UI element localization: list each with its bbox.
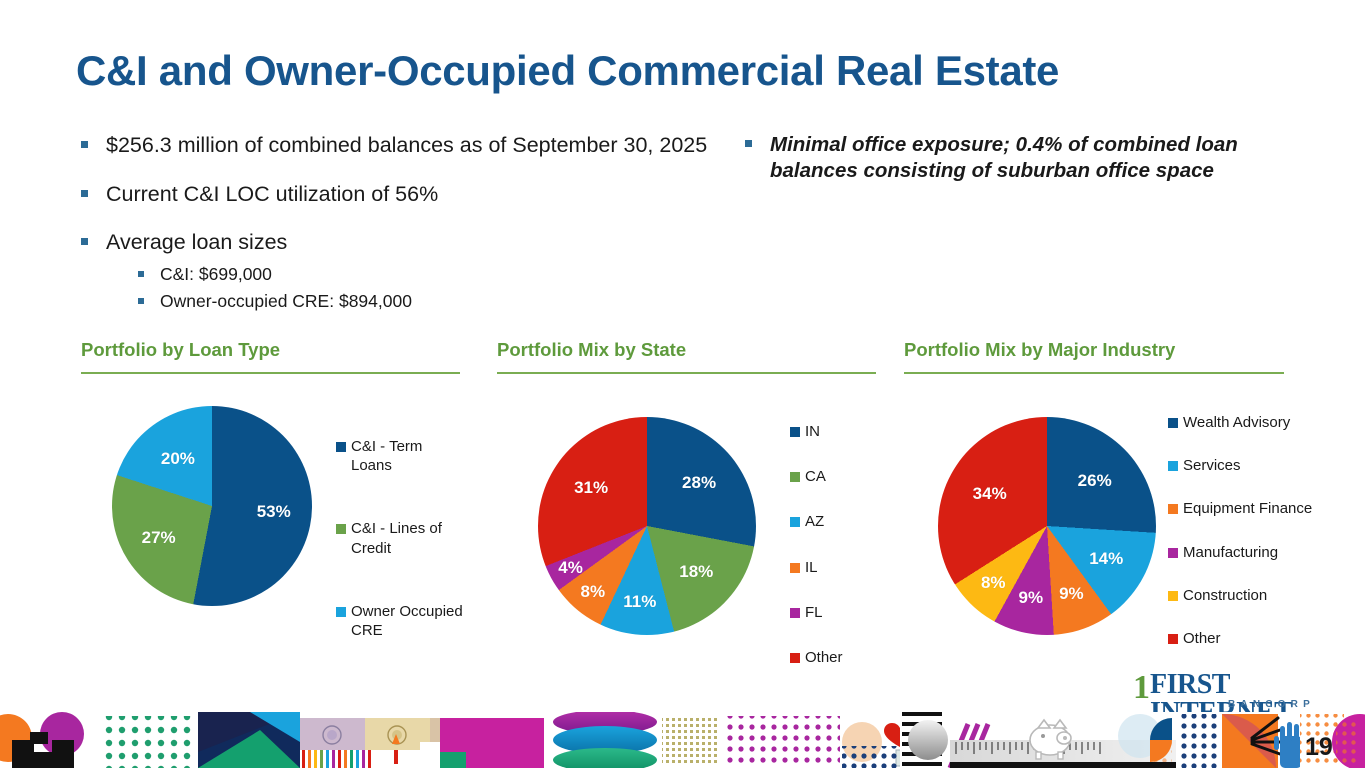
page-title: C&I and Owner-Occupied Commercial Real E… [76,47,1059,95]
pie-slice-label: 11% [623,592,656,612]
legend-item-label: Owner Occupied CRE [351,602,464,640]
legend-swatch-icon [790,517,800,527]
legend-item[interactable]: IN [790,422,882,441]
pie-slice-label: 31% [574,478,608,498]
company-logo: 1 FIRST INTERNET BANCORP [1133,668,1348,712]
legend-item[interactable]: Other [1168,629,1320,648]
legend-swatch-icon [790,472,800,482]
bullet-list-right: Minimal office exposure; 0.4% of combine… [742,132,1312,205]
legend-item-label: IN [805,422,820,441]
legend-swatch-icon [1168,461,1178,471]
pie-slice-label: 9% [1059,584,1084,604]
legend-item-label: Services [1183,456,1241,475]
pie-slice-label: 27% [142,528,176,548]
legend-item-label: C&I - Term Loans [351,437,464,475]
legend-item[interactable]: IL [790,558,882,577]
legend-item-label: Construction [1183,586,1267,605]
pie-slice-label: 34% [973,484,1007,504]
legend-swatch-icon [1168,634,1178,644]
legend-item-label: AZ [805,512,824,531]
pie-chart-loan-type: 53%27%20% C&I - Term LoansC&I - Lines of… [96,395,466,625]
legend-swatch-icon [1168,418,1178,428]
legend-swatch-icon [790,427,800,437]
legend-item[interactable]: FL [790,603,882,622]
legend-item[interactable]: C&I - Lines of Credit [336,519,464,557]
chart-heading-loan-type: Portfolio by Loan Type [81,339,460,374]
sub-bullet-item: Owner-occupied CRE: $894,000 [136,289,718,314]
logo-mark-icon: 1 [1133,671,1150,705]
legend-swatch-icon [1168,504,1178,514]
chart-heading-state: Portfolio Mix by State [497,339,876,374]
legend-item-label: Other [805,648,843,667]
legend-item[interactable]: AZ [790,512,882,531]
sub-bullet-list: C&I: $699,000 Owner-occupied CRE: $894,0… [106,262,718,315]
pie-slice-label: 14% [1089,549,1123,569]
pie-slice-label: 28% [682,473,716,493]
pie-graphic-area: 53%27%20% [112,406,312,606]
pie-slice-label: 8% [581,582,606,602]
pie-slice-label: 4% [558,558,583,578]
slide-root: C&I and Owner-Occupied Commercial Real E… [0,0,1365,768]
legend-item[interactable]: Owner Occupied CRE [336,602,464,640]
pie-legend: INCAAZILFLOther [790,422,882,693]
pie-slice-label: 18% [679,562,713,582]
pie-slice-label: 8% [981,573,1006,593]
legend-item-label: CA [805,467,826,486]
legend-item[interactable]: Manufacturing [1168,543,1320,562]
bullet-item: Current C&I LOC utilization of 56% [78,181,718,208]
pie-legend: C&I - Term LoansC&I - Lines of CreditOwn… [336,437,464,684]
pie-slice-label: 9% [1019,588,1044,608]
legend-item[interactable]: Equipment Finance [1168,499,1320,518]
sub-bullet-item: C&I: $699,000 [136,262,718,287]
legend-item-label: FL [805,603,823,622]
bullet-item: $256.3 million of combined balances as o… [78,132,718,159]
bullet-item: Average loan sizes C&I: $699,000 Owner-o… [78,229,718,314]
legend-item-label: Equipment Finance [1183,499,1312,518]
legend-item[interactable]: Services [1168,456,1320,475]
legend-item-label: Wealth Advisory [1183,413,1290,432]
pie-chart-industry: 26%14%9%9%8%34% Wealth AdvisoryServicesE… [920,395,1320,640]
legend-item-label: C&I - Lines of Credit [351,519,464,557]
bullet-item-office-exposure: Minimal office exposure; 0.4% of combine… [742,132,1312,183]
chart-heading-industry: Portfolio Mix by Major Industry [904,339,1284,374]
legend-swatch-icon [336,524,346,534]
legend-swatch-icon [790,608,800,618]
legend-item[interactable]: C&I - Term Loans [336,437,464,475]
legend-item[interactable]: Construction [1168,586,1320,605]
legend-swatch-icon [1168,591,1178,601]
logo-subtitle: BANCORP [1228,699,1315,710]
legend-swatch-icon [790,563,800,573]
pie-slices [938,417,1156,635]
pie-graphic-area: 28%18%11%8%4%31% [538,417,756,635]
pie-slice-label: 20% [161,449,195,469]
pie-graphic-area: 26%14%9%9%8%34% [938,417,1156,635]
legend-swatch-icon [336,607,346,617]
decorative-footer-strip: 1F [0,712,1365,768]
legend-swatch-icon [336,442,346,452]
footer-graphics-icon: 1F [0,712,1365,768]
pie-slice-label: 26% [1078,471,1112,491]
legend-item-label: IL [805,558,818,577]
legend-item[interactable]: Other [790,648,882,667]
legend-item[interactable]: Wealth Advisory [1168,413,1320,432]
bullet-list-left: $256.3 million of combined balances as o… [78,132,718,337]
page-number: 19 [1305,733,1333,762]
legend-item-label: Other [1183,629,1221,648]
legend-item-label: Manufacturing [1183,543,1278,562]
pie-legend: Wealth AdvisoryServicesEquipment Finance… [1168,413,1320,672]
legend-item[interactable]: CA [790,467,882,486]
legend-swatch-icon [1168,548,1178,558]
pie-slice-label: 53% [257,502,291,522]
pie-chart-state: 28%18%11%8%4%31% INCAAZILFLOther [512,395,882,640]
bullet-item-label: Average loan sizes [106,230,287,254]
legend-swatch-icon [790,653,800,663]
